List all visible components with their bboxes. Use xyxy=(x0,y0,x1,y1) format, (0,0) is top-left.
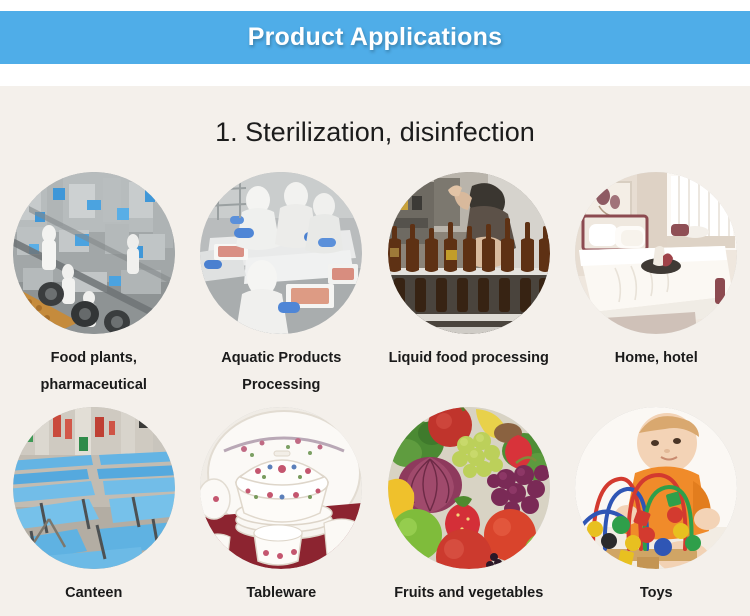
application-item[interactable]: Liquid food processing xyxy=(375,172,563,399)
application-caption: Toys xyxy=(563,580,750,607)
banner: Product Applications xyxy=(0,11,750,64)
application-item[interactable]: Food plants, pharmaceutical xyxy=(0,172,188,399)
caption-line-1: Liquid food processing xyxy=(389,350,549,366)
application-item[interactable]: Tableware xyxy=(188,407,376,607)
caption-line-1: Canteen xyxy=(65,585,122,601)
application-caption: Tableware xyxy=(188,580,375,607)
banner-title: Product Applications xyxy=(248,23,502,52)
canteen-photo xyxy=(13,407,175,569)
application-item[interactable]: Fruits and vegetables xyxy=(375,407,563,607)
bottling-line-photo xyxy=(388,172,550,334)
application-item[interactable]: Toys xyxy=(563,407,750,607)
application-item[interactable]: Aquatic Products Processing xyxy=(188,172,376,399)
caption-line-1: Food plants, pharmaceutical xyxy=(41,350,147,393)
caption-line-1: Aquatic Products xyxy=(221,350,341,366)
caption-line-1: Toys xyxy=(640,585,673,601)
fruits-vegetables-photo xyxy=(388,407,550,569)
hotel-bedroom-photo xyxy=(575,172,737,334)
product-applications-page: Product Applications 1. Sterilization, d… xyxy=(0,0,750,616)
application-caption: Fruits and vegetables xyxy=(375,580,562,607)
applications-grid: Food plants, pharmaceutical xyxy=(0,172,750,607)
application-item[interactable]: Canteen xyxy=(0,407,188,607)
aquatic-processing-photo xyxy=(200,172,362,334)
application-caption: Canteen xyxy=(0,580,187,607)
application-caption: Liquid food processing xyxy=(375,345,562,372)
section-heading: 1. Sterilization, disinfection xyxy=(0,117,750,148)
applications-row-1: Food plants, pharmaceutical xyxy=(0,172,750,399)
application-caption: Aquatic Products Processing xyxy=(188,345,375,399)
baby-toy-photo xyxy=(575,407,737,569)
content-panel: 1. Sterilization, disinfection xyxy=(0,86,750,616)
applications-row-2: Canteen xyxy=(0,407,750,607)
application-caption: Food plants, pharmaceutical xyxy=(0,345,187,399)
caption-line-1: Fruits and vegetables xyxy=(394,585,543,601)
application-caption: Home, hotel xyxy=(563,345,750,372)
caption-line-1: Home, hotel xyxy=(615,350,698,366)
caption-line-2: Processing xyxy=(188,372,375,399)
food-plant-photo xyxy=(13,172,175,334)
caption-line-1: Tableware xyxy=(246,585,316,601)
application-item[interactable]: Home, hotel xyxy=(563,172,750,399)
tableware-photo xyxy=(200,407,362,569)
